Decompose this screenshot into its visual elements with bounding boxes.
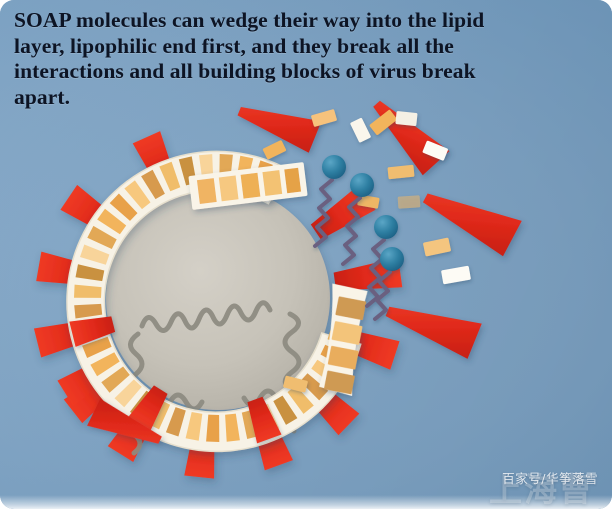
caption-line: interactions and all building blocks of … <box>14 59 598 85</box>
caption-line: apart. <box>14 85 598 111</box>
caption-text: SOAP molecules can wedge their way into … <box>14 8 598 110</box>
virus-particle <box>38 112 398 484</box>
caption-line: layer, lipophilic end first, and they br… <box>14 34 598 60</box>
lipid-block <box>206 415 219 442</box>
screenshot-root: SOAP molecules can wedge their way into … <box>0 0 612 509</box>
watermark-channel: 百家号/华筝落雪 <box>502 468 598 487</box>
caption-line: SOAP molecules can wedge their way into … <box>14 8 598 34</box>
